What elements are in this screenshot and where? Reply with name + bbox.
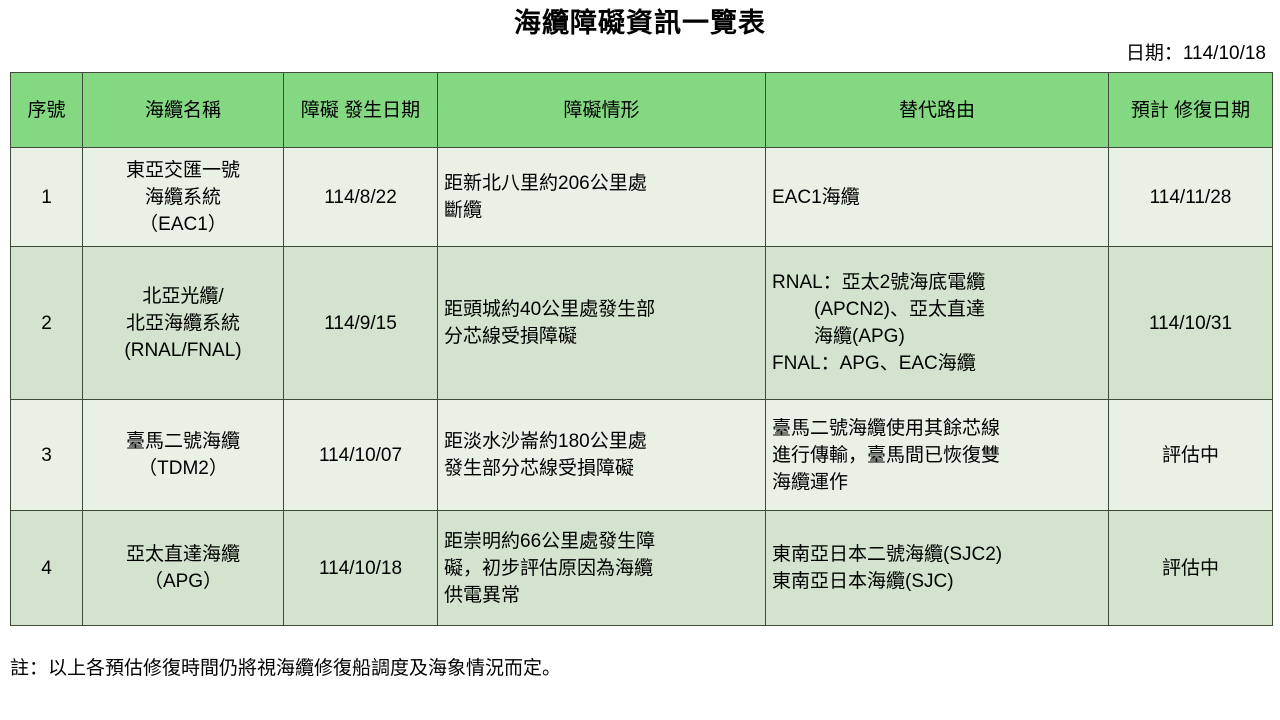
alt-route-line1: 臺馬二號海纜使用其餘芯線: [772, 415, 1102, 442]
cell-cable-name: 北亞光纜/ 北亞海纜系統 (RNAL/FNAL): [83, 247, 284, 400]
table-body: 1 東亞交匯一號 海纜系統 （EAC1） 114/8/22 距新北八里約206公…: [11, 148, 1273, 626]
cable-name-line1: 亞太直達海纜: [89, 541, 277, 568]
fault-desc-line1: 距崇明約66公里處發生障: [444, 528, 759, 555]
fault-desc-line3: 供電異常: [444, 582, 759, 609]
alt-route-line2: 東南亞日本海纜(SJC): [772, 568, 1102, 595]
footnote: 註：以上各預估修復時間仍將視海纜修復船調度及海象情況而定。: [10, 656, 1280, 682]
table-row: 4 亞太直達海纜 （APG） 114/10/18 距崇明約66公里處發生障 礙，…: [11, 511, 1273, 626]
cell-fault-description: 距淡水沙崙約180公里處 發生部分芯線受損障礙: [438, 400, 766, 511]
cell-fault-date: 114/8/22: [284, 148, 438, 247]
cell-alternate-route: RNAL：亞太2號海底電纜 (APCN2)、亞太直達 海纜(APG) FNAL：…: [766, 247, 1109, 400]
cell-repair-date: 114/10/31: [1109, 247, 1273, 400]
table-row: 3 臺馬二號海纜 （TDM2） 114/10/07 距淡水沙崙約180公里處 發…: [11, 400, 1273, 511]
fault-desc-line2: 斷纜: [444, 197, 759, 224]
table-row: 1 東亞交匯一號 海纜系統 （EAC1） 114/8/22 距新北八里約206公…: [11, 148, 1273, 247]
alt-route-line1: RNAL：亞太2號海底電纜: [772, 269, 1102, 296]
cell-alternate-route: 臺馬二號海纜使用其餘芯線 進行傳輸，臺馬間已恢復雙 海纜運作: [766, 400, 1109, 511]
cell-seq: 1: [11, 148, 83, 247]
header-row: 序號 海纜名稱 障礙 發生日期 障礙情形 替代路由 預計 修復日期: [11, 73, 1273, 148]
cell-fault-description: 距崇明約66公里處發生障 礙，初步評估原因為海纜 供電異常: [438, 511, 766, 626]
fault-desc-line2: 分芯線受損障礙: [444, 323, 759, 350]
cell-seq: 3: [11, 400, 83, 511]
fault-desc-line2: 發生部分芯線受損障礙: [444, 455, 759, 482]
column-header-fault-date: 障礙 發生日期: [284, 73, 438, 148]
column-header-cable-name: 海纜名稱: [83, 73, 284, 148]
column-header-fault-date-line2: 發生日期: [344, 100, 420, 121]
column-header-repair-date: 預計 修復日期: [1109, 73, 1273, 148]
cable-name-line2: 海纜系統: [89, 184, 277, 211]
fault-desc-line1: 距新北八里約206公里處: [444, 170, 759, 197]
fault-desc-line1: 距頭城約40公里處發生部: [444, 296, 759, 323]
cell-repair-date: 114/11/28: [1109, 148, 1273, 247]
column-header-alternate-route: 替代路由: [766, 73, 1109, 148]
cell-repair-date: 評估中: [1109, 511, 1273, 626]
cell-fault-description: 距新北八里約206公里處 斷纜: [438, 148, 766, 247]
alt-route-line1: 東南亞日本二號海纜(SJC2): [772, 541, 1102, 568]
cell-seq: 2: [11, 247, 83, 400]
cell-cable-name: 亞太直達海纜 （APG）: [83, 511, 284, 626]
cell-cable-name: 東亞交匯一號 海纜系統 （EAC1）: [83, 148, 284, 247]
cell-alternate-route: EAC1海纜: [766, 148, 1109, 247]
cable-name-line2: （APG）: [89, 568, 277, 595]
cell-fault-date: 114/9/15: [284, 247, 438, 400]
column-header-seq: 序號: [11, 73, 83, 148]
cable-name-line1: 臺馬二號海纜: [89, 428, 277, 455]
alt-route-line2: (APCN2)、亞太直達: [772, 296, 1102, 323]
alt-route-line1: EAC1海纜: [772, 184, 1102, 211]
report-date: 日期：114/10/18: [0, 42, 1280, 66]
alt-route-line4: FNAL：APG、EAC海纜: [772, 350, 1102, 377]
cell-alternate-route: 東南亞日本二號海纜(SJC2) 東南亞日本海纜(SJC): [766, 511, 1109, 626]
cell-fault-description: 距頭城約40公里處發生部 分芯線受損障礙: [438, 247, 766, 400]
alt-route-line3: 海纜運作: [772, 469, 1102, 496]
column-header-fault-description: 障礙情形: [438, 73, 766, 148]
cell-seq: 4: [11, 511, 83, 626]
cable-name-line3: （EAC1）: [89, 211, 277, 238]
cable-fault-table: 序號 海纜名稱 障礙 發生日期 障礙情形 替代路由 預計 修復日期 1 東亞交匯…: [10, 72, 1273, 626]
cell-fault-date: 114/10/07: [284, 400, 438, 511]
fault-desc-line2: 礙，初步評估原因為海纜: [444, 555, 759, 582]
alt-route-line2: 進行傳輸，臺馬間已恢復雙: [772, 442, 1102, 469]
column-header-repair-date-line2: 修復日期: [1174, 100, 1250, 121]
cable-name-line1: 東亞交匯一號: [89, 157, 277, 184]
cell-repair-date: 評估中: [1109, 400, 1273, 511]
alt-route-line3: 海纜(APG): [772, 323, 1102, 350]
cable-name-line3: (RNAL/FNAL): [89, 337, 277, 364]
cable-name-line1: 北亞光纜/: [89, 283, 277, 310]
column-header-repair-date-line1: 預計: [1131, 100, 1169, 121]
page-title: 海纜障礙資訊一覽表: [0, 0, 1280, 40]
fault-desc-line1: 距淡水沙崙約180公里處: [444, 428, 759, 455]
cell-cable-name: 臺馬二號海纜 （TDM2）: [83, 400, 284, 511]
cable-fault-report-page: 海纜障礙資訊一覽表 日期：114/10/18 序號 海纜名稱 障礙 發生日期 障…: [0, 0, 1280, 720]
cable-name-line2: 北亞海纜系統: [89, 310, 277, 337]
column-header-fault-date-line1: 障礙: [301, 100, 339, 121]
table-row: 2 北亞光纜/ 北亞海纜系統 (RNAL/FNAL) 114/9/15 距頭城約…: [11, 247, 1273, 400]
table-header: 序號 海纜名稱 障礙 發生日期 障礙情形 替代路由 預計 修復日期: [11, 73, 1273, 148]
cell-fault-date: 114/10/18: [284, 511, 438, 626]
cable-name-line2: （TDM2）: [89, 455, 277, 482]
